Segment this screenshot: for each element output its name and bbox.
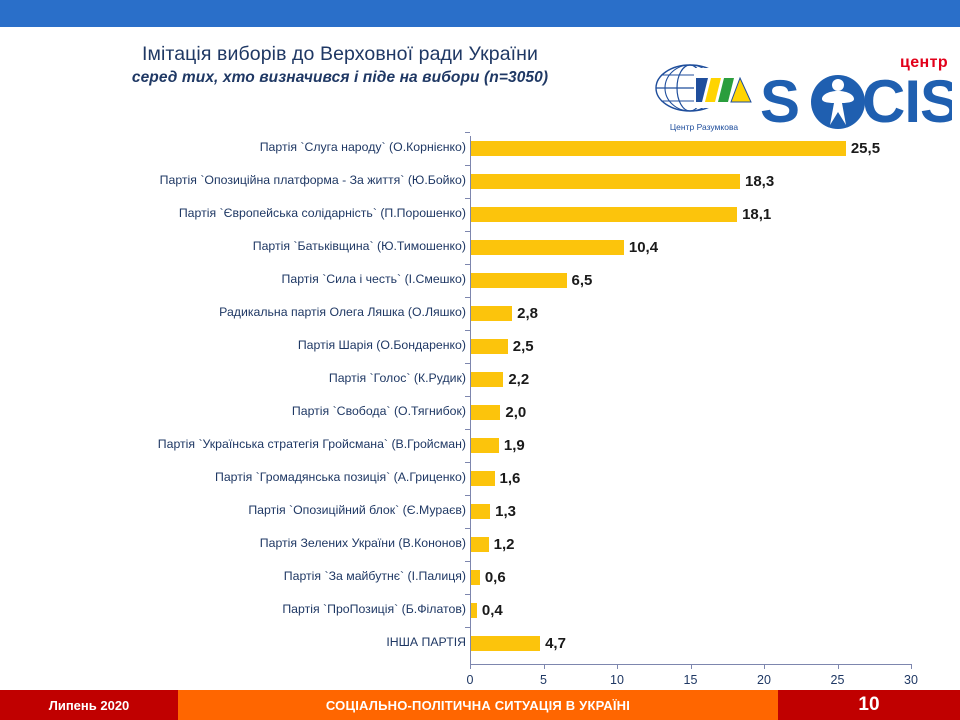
bar-value-label: 2,8: [517, 306, 538, 321]
bar-value-label: 1,2: [494, 537, 515, 552]
bar: [471, 438, 499, 453]
x-axis-tick: [544, 664, 545, 669]
bar-value-label: 25,5: [851, 141, 880, 156]
category-label: Партія `За майбутнє` (І.Палиця): [284, 569, 466, 583]
bar: [471, 537, 489, 552]
category-label: Партія `ПроПозиція` (Б.Філатов): [282, 602, 466, 616]
page-number: 10: [858, 694, 879, 716]
category-label: ІНША ПАРТІЯ: [386, 635, 466, 649]
x-axis-tick-label: 0: [467, 672, 474, 688]
bar-value-label: 1,9: [504, 438, 525, 453]
bar: [471, 273, 567, 288]
x-axis-tick: [691, 664, 692, 669]
category-label: Партія `Слуга народу` (О.Корнієнко): [260, 140, 466, 154]
y-axis-tick: [465, 462, 470, 463]
y-axis-tick: [465, 495, 470, 496]
y-axis-tick: [465, 396, 470, 397]
x-axis-tick: [470, 664, 471, 669]
y-axis-tick: [465, 528, 470, 529]
x-axis-tick-label: 5: [540, 672, 547, 688]
bar: [471, 372, 503, 387]
bar-value-label: 2,5: [513, 339, 534, 354]
y-axis-tick: [465, 561, 470, 562]
bar-value-label: 18,3: [745, 174, 774, 189]
category-label: Партія `Батьківщина` (Ю.Тимошенко): [253, 239, 466, 253]
y-axis-tick: [465, 231, 470, 232]
y-axis-tick: [465, 330, 470, 331]
footer-title-block: СОЦІАЛЬНО-ПОЛІТИЧНА СИТУАЦІЯ В УКРАЇНІ: [178, 690, 778, 720]
y-axis-tick: [465, 165, 470, 166]
bar-value-label: 1,6: [500, 471, 521, 486]
svg-text:CIS: CIS: [862, 72, 952, 130]
bar: [471, 339, 508, 354]
footer-date: Липень 2020: [49, 698, 130, 713]
title-block: Імітація виборів до Верховної ради Украї…: [60, 41, 620, 89]
footer-page-block: 10: [778, 690, 960, 720]
razumkov-globe-icon: [648, 58, 760, 120]
category-label: Радикальна партія Олега Ляшка (О.Ляшко): [219, 305, 466, 319]
x-axis-tick: [838, 664, 839, 669]
x-axis-tick: [617, 664, 618, 669]
category-label: Партія `Свобода` (О.Тягнибок): [292, 404, 466, 418]
bar: [471, 141, 846, 156]
bar: [471, 405, 500, 420]
bar-value-label: 2,0: [505, 405, 526, 420]
y-axis-tick: [465, 297, 470, 298]
y-axis-tick: [465, 429, 470, 430]
x-axis-tick-label: 25: [831, 672, 845, 688]
x-axis-tick-label: 30: [904, 672, 918, 688]
category-label: Партія `Українська стратегія Гройсмана` …: [158, 437, 466, 451]
category-label: Партія `Опозиційний блок` (Є.Мураєв): [248, 503, 466, 517]
bar-value-label: 0,4: [482, 603, 503, 618]
x-axis-tick-label: 20: [757, 672, 771, 688]
y-axis-tick: [465, 132, 470, 133]
category-label: Партія `Опозиційна платформа - За життя`…: [160, 173, 466, 187]
bar: [471, 603, 477, 618]
header: Імітація виборів до Верховної ради Украї…: [0, 27, 960, 127]
bar: [471, 174, 740, 189]
x-axis-tick-label: 10: [610, 672, 624, 688]
bar-value-label: 10,4: [629, 240, 658, 255]
x-axis-tick-label: 15: [684, 672, 698, 688]
y-axis-tick: [465, 627, 470, 628]
bar: [471, 306, 512, 321]
y-axis-tick: [465, 198, 470, 199]
footer: Липень 2020 СОЦІАЛЬНО-ПОЛІТИЧНА СИТУАЦІЯ…: [0, 690, 960, 720]
bar-value-label: 0,6: [485, 570, 506, 585]
footer-title: СОЦІАЛЬНО-ПОЛІТИЧНА СИТУАЦІЯ В УКРАЇНІ: [326, 698, 630, 713]
bar-value-label: 4,7: [545, 636, 566, 651]
bar-chart: Партія `Слуга народу` (О.Корнієнко)Парті…: [0, 127, 960, 687]
bar: [471, 471, 495, 486]
razumkov-centre-logo: Центр Разумкова: [648, 58, 760, 134]
bar-value-label: 6,5: [572, 273, 593, 288]
footer-date-block: Липень 2020: [0, 690, 178, 720]
bar-value-label: 2,2: [508, 372, 529, 387]
top-banner: [0, 0, 960, 27]
category-label: Партія `Сила і честь` (І.Смешко): [282, 272, 466, 286]
y-axis-tick: [465, 594, 470, 595]
page-subtitle: серед тих, хто визначився і піде на вибо…: [60, 67, 620, 89]
bar-value-label: 1,3: [495, 504, 516, 519]
bar: [471, 504, 490, 519]
bar: [471, 570, 480, 585]
category-label: Партія `Європейська солідарність` (П.Пор…: [179, 206, 466, 220]
plot-area: 05101520253025,518,318,110,46,52,82,52,2…: [470, 136, 911, 664]
y-axis-tick: [465, 363, 470, 364]
socis-wordmark-icon: S CIS: [760, 72, 952, 130]
bar: [471, 240, 624, 255]
category-label: Партія `Голос` (К.Рудик): [329, 371, 466, 385]
category-label: Партія Шарія (О.Бондаренко): [298, 338, 466, 352]
socis-centr-label: центр: [900, 55, 948, 71]
bar: [471, 636, 540, 651]
category-label: Партія Зелених України (В.Кононов): [260, 536, 466, 550]
bar: [471, 207, 737, 222]
page-title: Імітація виборів до Верховної ради Украї…: [60, 41, 620, 67]
x-axis-tick: [764, 664, 765, 669]
svg-text:S: S: [760, 72, 799, 130]
x-axis-tick: [911, 664, 912, 669]
category-label: Партія `Громадянська позиція` (А.Гриценк…: [215, 470, 466, 484]
socis-logo: центр S CIS: [760, 55, 952, 133]
bar-value-label: 18,1: [742, 207, 771, 222]
y-axis-tick: [465, 264, 470, 265]
